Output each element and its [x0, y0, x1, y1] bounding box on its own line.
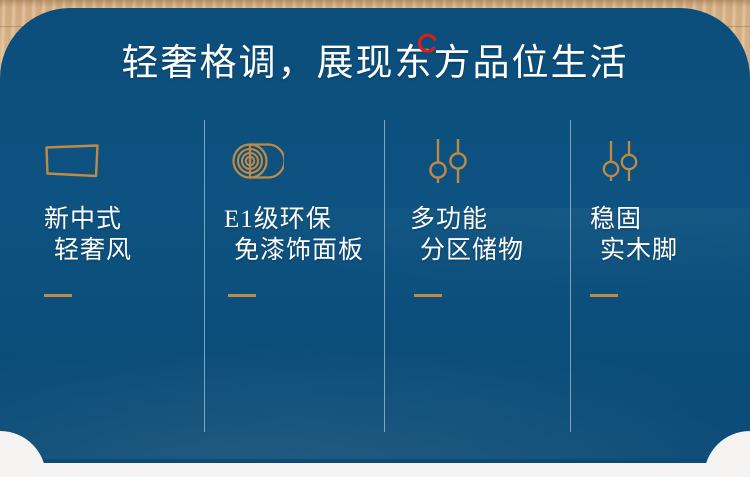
feature-label-2-line2: 免漆饰面板 [224, 235, 384, 266]
feature-columns: 新中式 轻奢风 E1级环保 免漆饰面板 [0, 118, 750, 438]
feature-label-2-line1: E1级环保 [224, 204, 384, 235]
feature-divider-dash-3 [414, 294, 442, 297]
feature-icon-3-wrapper [410, 118, 570, 204]
page-title: 轻奢格调，展现东方品位生活 [0, 40, 750, 88]
bottom-background-band [0, 463, 750, 477]
slider-control-icon [426, 137, 470, 185]
cushion-panel-icon [44, 144, 100, 178]
feature-label-1-line2: 轻奢风 [44, 235, 204, 266]
red-arc-annotation-icon [416, 33, 438, 55]
feature-label-3-line2: 分区储物 [410, 235, 570, 266]
feature-column-4: 稳固 实木脚 [570, 118, 750, 438]
feature-column-2: E1级环保 免漆饰面板 [204, 118, 384, 438]
feature-icon-2-wrapper [224, 118, 384, 204]
feature-label-1-line1: 新中式 [44, 204, 204, 235]
wood-log-rings-icon [232, 141, 284, 181]
feature-icon-4-wrapper [590, 118, 750, 204]
feature-label-3-line1: 多功能 [410, 204, 570, 235]
feature-column-3: 多功能 分区储物 [384, 118, 570, 438]
feature-column-1: 新中式 轻奢风 [0, 118, 204, 438]
feature-divider-dash-2 [228, 294, 256, 297]
product-feature-banner: 轻奢格调，展现东方品位生活 新中式 轻奢风 [0, 0, 750, 477]
feature-label-4-line1: 稳固 [590, 204, 750, 235]
slider-control-icon [600, 138, 642, 184]
feature-divider-dash-1 [44, 294, 72, 297]
feature-icon-1-wrapper [44, 118, 204, 204]
bottom-panel-edge [18, 459, 732, 463]
feature-divider-dash-4 [590, 294, 618, 297]
feature-label-4-line2: 实木脚 [590, 235, 750, 266]
